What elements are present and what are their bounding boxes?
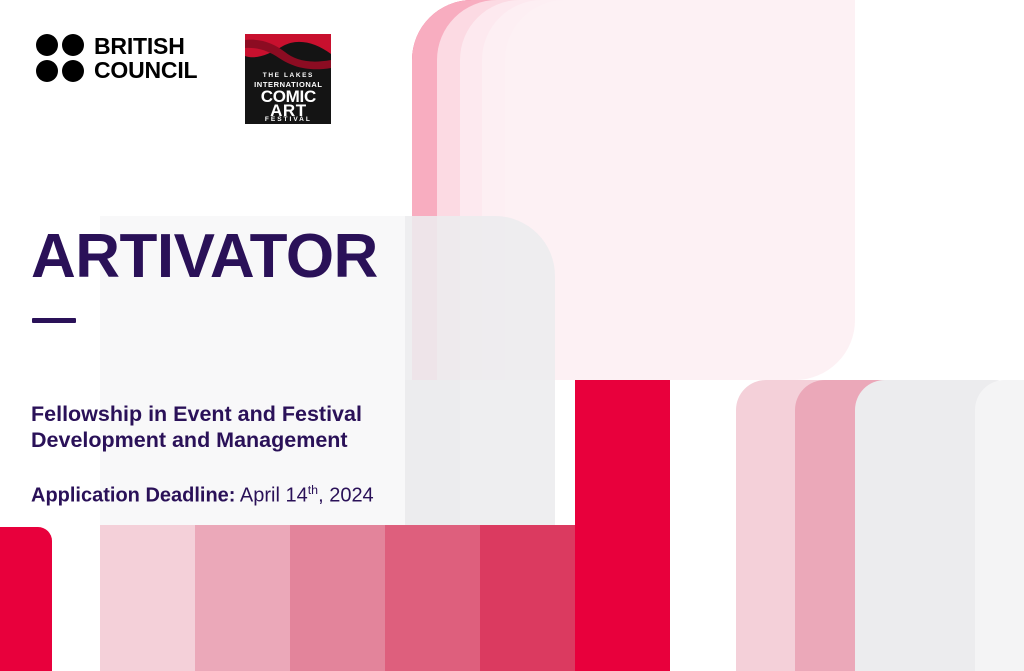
fan-strip-2	[437, 0, 855, 380]
deadline-date: April 14	[240, 485, 308, 507]
red-lower-extension	[575, 380, 670, 671]
bottom-band-1	[100, 525, 195, 671]
fan-strip-5	[505, 0, 855, 380]
british-council-logo: BRITISH COUNCIL	[36, 34, 197, 82]
deadline-year: , 2024	[318, 485, 374, 507]
deadline-ordinal: th	[308, 483, 318, 497]
bottom-band-4	[385, 525, 480, 671]
bottom-band-3	[290, 525, 385, 671]
stack-card-gray	[855, 380, 1024, 671]
title-rule-divider	[32, 318, 76, 323]
poster-canvas: BRITISH COUNCIL THE LAKES INTERNATIONAL …	[0, 0, 1024, 671]
bottom-band-2	[195, 525, 290, 671]
stack-card-pink	[795, 380, 975, 671]
red-hero-block	[412, 0, 855, 380]
page-title: ARTIVATOR	[31, 224, 451, 290]
british-council-line-1: BRITISH	[94, 33, 185, 59]
fan-strip-4	[482, 0, 855, 380]
lakes-comic-art-festival-logo: THE LAKES INTERNATIONAL COMIC ART FESTIV…	[245, 34, 331, 124]
fan-strip-3	[460, 0, 855, 380]
british-council-dots-icon	[36, 34, 84, 82]
programme-subtitle: Fellowship in Event and Festival Develop…	[31, 401, 401, 453]
red-corner-notch	[0, 527, 52, 671]
stack-card-gray-light	[975, 380, 1024, 671]
stack-card-white	[670, 380, 855, 671]
fan-strip-1	[412, 0, 855, 380]
headline-content: ARTIVATOR Fellowship in Event and Festiv…	[31, 224, 451, 509]
british-council-wordmark: BRITISH COUNCIL	[94, 34, 197, 82]
british-council-line-2: COUNCIL	[94, 57, 197, 83]
bottom-band-5	[480, 525, 575, 671]
white-left-lower-mask	[52, 525, 100, 671]
festival-line-festival: FESTIVAL	[245, 116, 331, 123]
festival-line-the-lakes: THE LAKES	[245, 72, 331, 79]
logo-row: BRITISH COUNCIL THE LAKES INTERNATIONAL …	[36, 34, 331, 124]
stack-card-pink-light	[736, 380, 916, 671]
application-deadline: Application Deadline: April 14th, 2024	[31, 477, 451, 509]
bottom-band-6	[575, 525, 670, 671]
deadline-label: Application Deadline:	[31, 485, 235, 507]
